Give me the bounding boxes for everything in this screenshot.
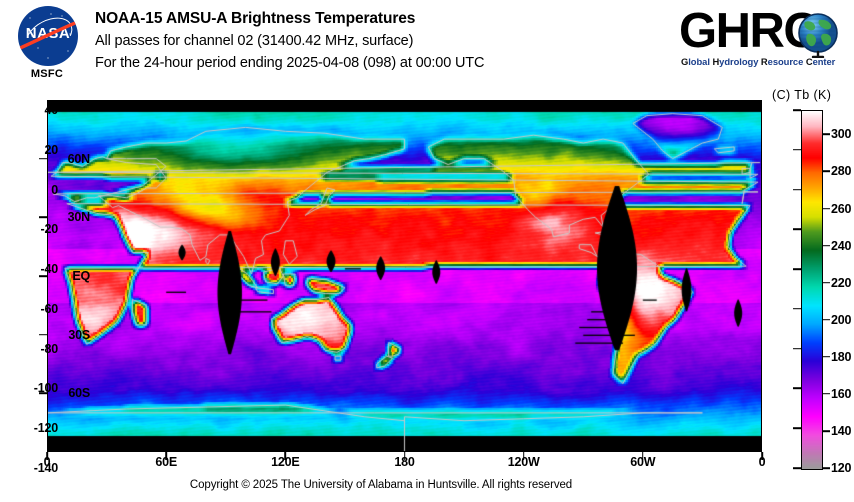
map-longitude-tick — [642, 452, 644, 460]
colorbar-kelvin-tick — [822, 319, 830, 321]
colorbar-kelvin-tick — [822, 245, 830, 247]
map-latitude-tick — [39, 334, 47, 336]
colorbar-kelvin-label: 280 — [831, 164, 851, 178]
colorbar-kelvin-label: 120 — [831, 461, 851, 475]
colorbar-celsius-label: -20 — [41, 222, 58, 236]
brightness-temperature-field — [47, 100, 762, 452]
page-title: NOAA-15 AMSU-A Brightness Temperatures — [95, 8, 675, 30]
colorbar-kelvin-label: 180 — [831, 350, 851, 364]
map-longitude-tick — [285, 452, 287, 460]
map-longitude-tick — [523, 452, 525, 460]
colorbar-celsius-label: 40 — [44, 103, 58, 117]
colorbar-kelvin-tick — [822, 282, 830, 284]
ghrc-subtitle: Global Hydrology Resource Center — [681, 56, 835, 67]
map-latitude-label: 30S — [68, 328, 90, 342]
colorbar-celsius-tick — [793, 109, 801, 111]
colorbar-celsius-label: 20 — [44, 143, 58, 157]
colorbar — [801, 110, 823, 470]
map-longitude-tick — [46, 452, 48, 460]
nasa-swoosh-icon — [18, 19, 78, 53]
colorbar-kelvin-tick — [822, 356, 830, 358]
map-latitude-label: EQ — [72, 269, 90, 283]
colorbar-kelvin-tick — [822, 430, 830, 432]
nasa-logo: NASA MSFC — [10, 6, 84, 82]
colorbar-celsius-label: -60 — [41, 302, 58, 316]
title-subline-channel: All passes for channel 02 (31400.42 MHz,… — [95, 30, 675, 52]
map-latitude-tick — [39, 217, 47, 219]
ghrc-logo: GHRC — [679, 7, 847, 75]
colorbar-celsius-tick — [793, 189, 801, 191]
colorbar-kelvin-tick — [822, 208, 830, 210]
colorbar-celsius-label: -120 — [34, 421, 58, 435]
globe-icon — [795, 12, 841, 58]
colorbar-celsius-tick — [793, 308, 801, 310]
colorbar-celsius-tick — [793, 388, 801, 390]
world-map — [47, 100, 762, 452]
colorbar-gradient — [802, 111, 822, 469]
colorbar-celsius-tick — [793, 229, 801, 231]
map-latitude-label: 60N — [68, 152, 90, 166]
colorbar-celsius-tick — [793, 149, 801, 151]
colorbar-celsius-label: -80 — [41, 342, 58, 356]
colorbar-celsius-label: 0 — [51, 183, 58, 197]
colorbar-celsius-label: -100 — [34, 381, 58, 395]
map-latitude-label: 60S — [68, 386, 90, 400]
colorbar-celsius-tick — [793, 268, 801, 270]
map-latitude-label: 30N — [68, 210, 90, 224]
title-block: NOAA-15 AMSU-A Brightness Temperatures A… — [95, 8, 675, 74]
colorbar-kelvin-label: 240 — [831, 239, 851, 253]
colorbar-kelvin-label: 200 — [831, 313, 851, 327]
map-longitude-tick — [165, 452, 167, 460]
title-subline-period: For the 24-hour period ending 2025-04-08… — [95, 52, 675, 74]
colorbar-kelvin-label: 220 — [831, 276, 851, 290]
colorbar-kelvin-label: 140 — [831, 424, 851, 438]
colorbar-kelvin-tick — [822, 134, 830, 136]
colorbar-kelvin-label: 260 — [831, 202, 851, 216]
map-longitude-tick — [761, 452, 763, 460]
map-longitude-tick — [404, 452, 406, 460]
colorbar-kelvin-label: 300 — [831, 127, 851, 141]
map-latitude-tick — [39, 158, 47, 160]
colorbar-celsius-label: -40 — [41, 262, 58, 276]
colorbar-celsius-tick — [793, 427, 801, 429]
colorbar-celsius-label: -140 — [34, 461, 58, 475]
nasa-center-label: MSFC — [10, 68, 84, 80]
colorbar-kelvin-tick — [822, 171, 830, 173]
nasa-meatball-icon: NASA — [18, 6, 78, 66]
colorbar-kelvin-tick — [822, 467, 830, 469]
visualization-page: NASA MSFC NOAA-15 AMSU-A Brightness Temp… — [0, 0, 854, 502]
colorbar-celsius-tick — [793, 467, 801, 469]
colorbar-celsius-tick — [793, 348, 801, 350]
colorbar-kelvin-tick — [822, 393, 830, 395]
copyright-notice: Copyright © 2025 The University of Alaba… — [0, 479, 762, 491]
colorbar-kelvin-label: 160 — [831, 387, 851, 401]
colorbar-header: (C) Tb (K) — [772, 88, 831, 102]
